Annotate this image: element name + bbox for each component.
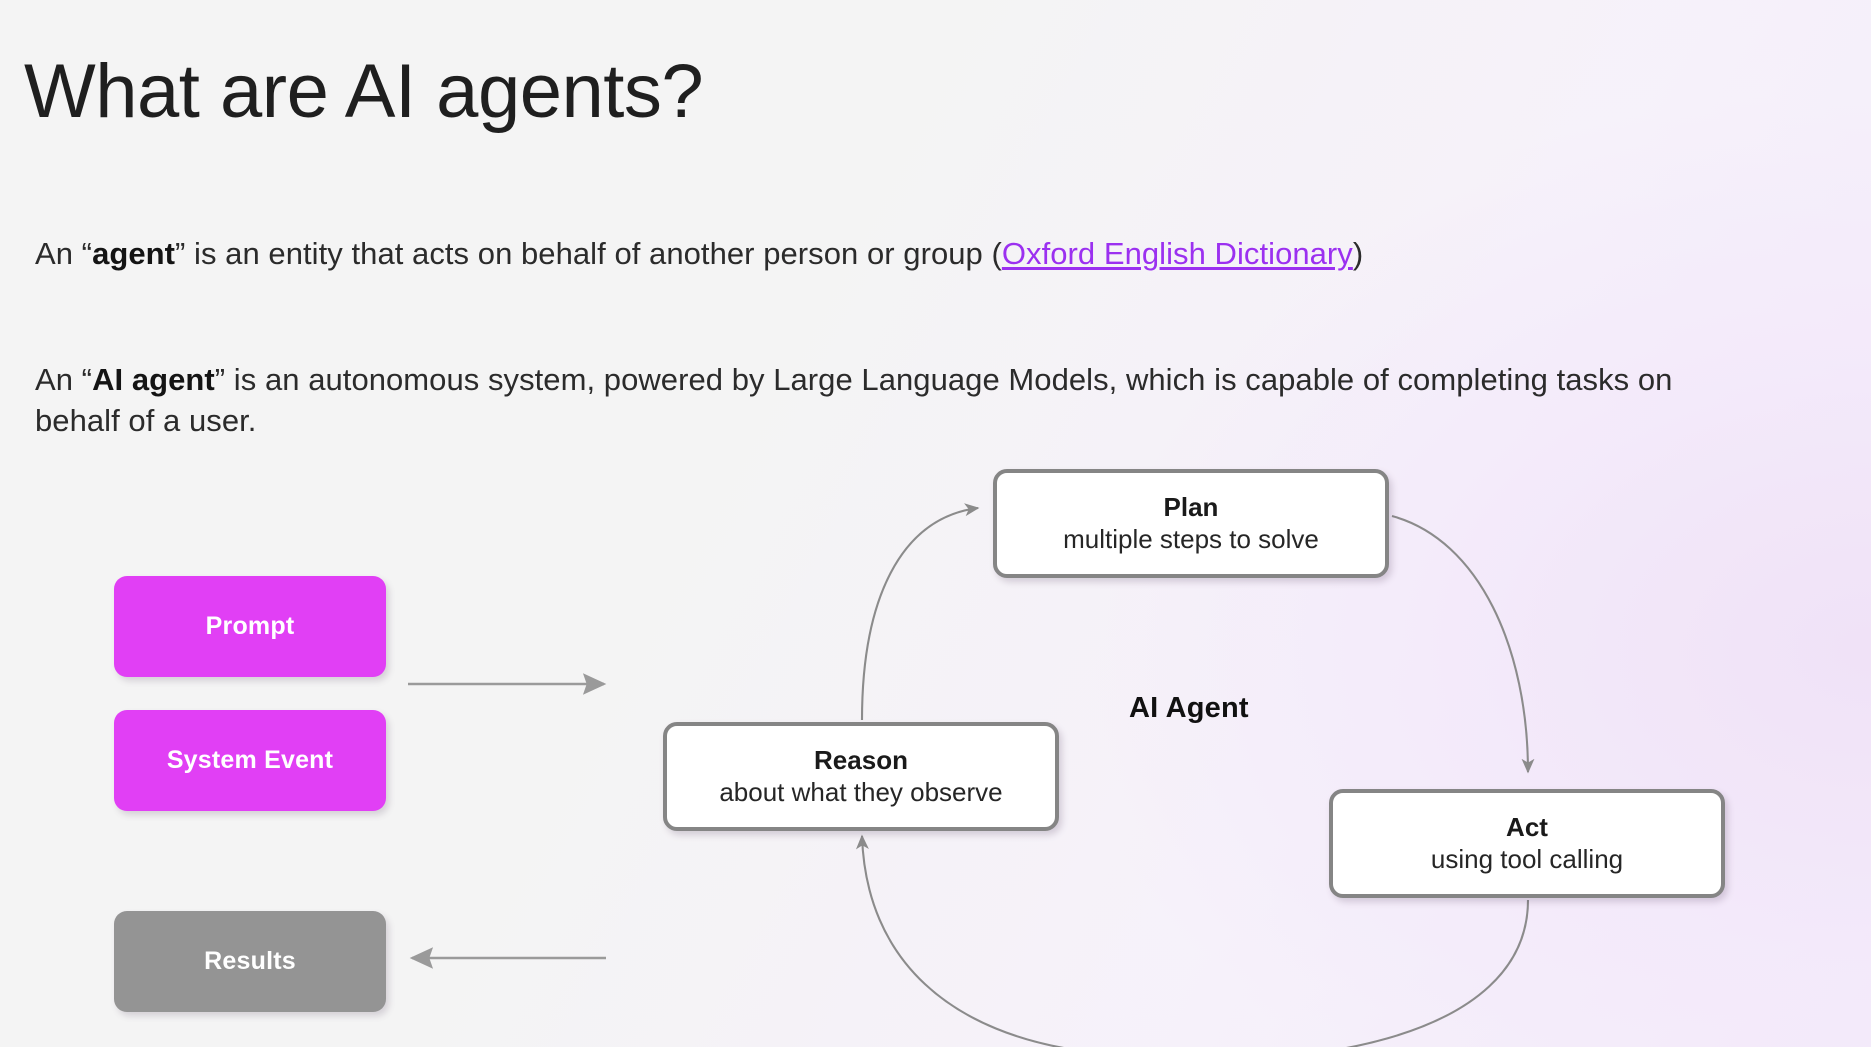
page-title: What are AI agents?	[24, 52, 703, 132]
para2-lead: An “	[35, 362, 92, 397]
io-block-prompt[interactable]: Prompt	[114, 576, 386, 677]
definition-paragraph-agent: An “agent” is an entity that acts on beh…	[35, 234, 1735, 275]
cycle-node-act[interactable]: Act using tool calling	[1329, 789, 1725, 898]
oxford-english-dictionary-link[interactable]: Oxford English Dictionary	[1002, 236, 1353, 271]
slide-canvas: What are AI agents? An “agent” is an ent…	[0, 0, 1871, 1047]
cycle-node-reason-subtitle: about what they observe	[719, 777, 1002, 809]
para2-bold-term: AI agent	[92, 362, 215, 397]
para1-mid: ” is an entity that acts on behalf of an…	[175, 236, 1002, 271]
io-block-system-event[interactable]: System Event	[114, 710, 386, 811]
cycle-node-reason[interactable]: Reason about what they observe	[663, 722, 1059, 831]
para1-bold-term: agent	[92, 236, 175, 271]
io-block-results[interactable]: Results	[114, 911, 386, 1012]
cycle-node-act-subtitle: using tool calling	[1431, 844, 1623, 876]
definition-paragraph-ai-agent: An “AI agent” is an autonomous system, p…	[35, 360, 1675, 442]
para1-lead: An “	[35, 236, 92, 271]
para1-tail: )	[1353, 236, 1363, 271]
para2-mid: ” is an autonomous system, powered by La…	[35, 362, 1672, 438]
cycle-node-act-title: Act	[1506, 812, 1548, 844]
diagram-center-label: AI Agent	[1129, 692, 1249, 725]
cycle-node-reason-title: Reason	[814, 745, 908, 777]
cycle-node-plan-subtitle: multiple steps to solve	[1063, 524, 1319, 556]
cycle-node-plan-title: Plan	[1164, 492, 1219, 524]
connector-reason-to-plan	[862, 508, 978, 720]
cycle-node-plan[interactable]: Plan multiple steps to solve	[993, 469, 1389, 578]
connector-plan-to-act	[1392, 516, 1528, 772]
